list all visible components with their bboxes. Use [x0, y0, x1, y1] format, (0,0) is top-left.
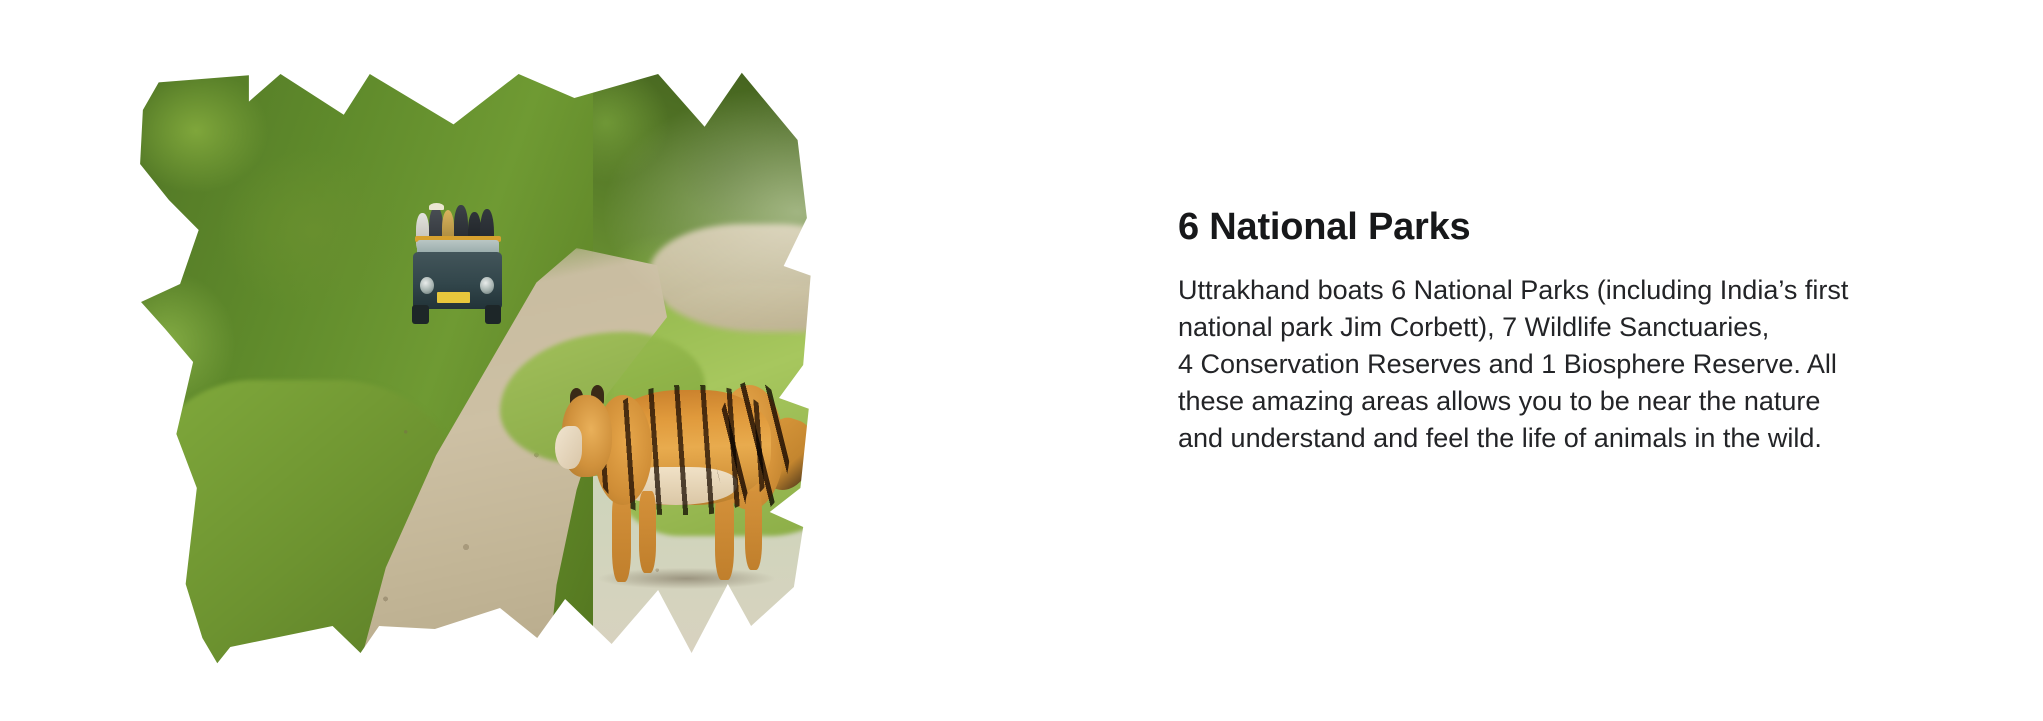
wildlife-scene-illustration — [128, 68, 1058, 668]
tourist-hat — [429, 203, 444, 210]
page-root: 6 National Parks Uttrakhand boats 6 Nati… — [0, 0, 2043, 721]
text-content-panel: 6 National Parks Uttrakhand boats 6 Nati… — [1178, 208, 1988, 457]
page-title: 6 National Parks — [1178, 208, 1988, 246]
jeep-wheel — [412, 305, 428, 323]
tiger-leg — [745, 491, 762, 570]
torn-edge-photo — [128, 68, 1058, 668]
safari-jeep — [407, 203, 515, 326]
description-paragraph: Uttrakhand boats 6 National Parks (inclu… — [1178, 272, 1988, 457]
tiger-leg — [639, 491, 656, 573]
bengal-tiger — [551, 347, 816, 587]
jeep-licence-plate — [437, 292, 469, 303]
jeep-headlamp — [420, 277, 434, 294]
tiger-muzzle — [555, 426, 582, 469]
jeep-wheel — [485, 305, 501, 323]
photo-clip-mask — [128, 68, 1058, 668]
